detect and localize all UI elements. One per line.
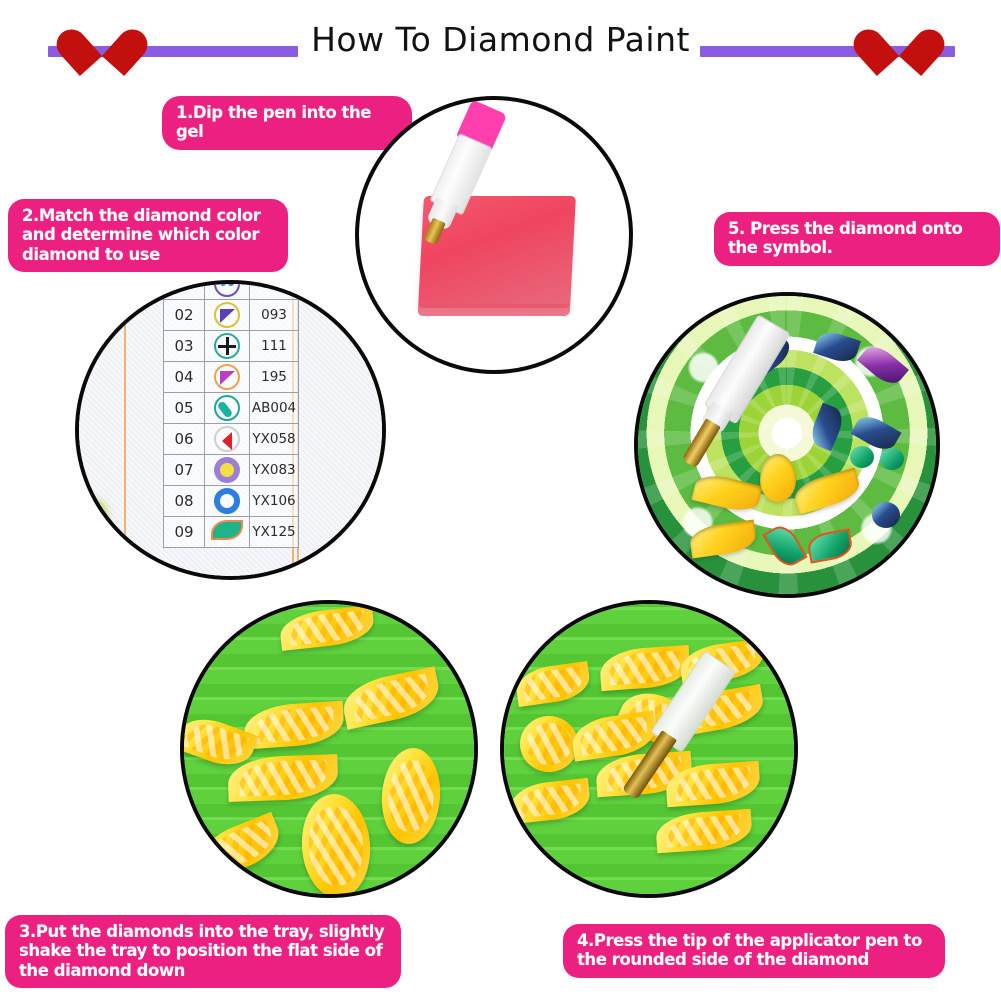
legend-code: YX083	[250, 455, 299, 486]
legend-code: YX058	[250, 424, 299, 455]
legend-index: 01	[164, 280, 205, 300]
step-5-photo-mandala-canvas	[634, 292, 940, 598]
table-row: 09 YX125	[164, 517, 299, 548]
table-row: 04 195	[164, 362, 299, 393]
legend-index: 08	[164, 486, 205, 517]
legend-code: 111	[250, 331, 299, 362]
legend-index: 05	[164, 393, 205, 424]
slash-capsule-circle-icon	[205, 393, 250, 424]
legend-code: 020	[250, 280, 299, 300]
legend-code: 093	[250, 300, 299, 331]
leaf-shape-icon	[205, 517, 250, 548]
double-dot-circle-icon	[205, 280, 250, 300]
legend-index: 02	[164, 300, 205, 331]
stray-teal-symbol	[81, 546, 105, 568]
step-2-label: 2.Match the diamond color and determine …	[8, 199, 288, 272]
step-3-photo-diamonds-in-tray	[180, 600, 478, 898]
step-4-photo-pen-picking-diamond	[500, 600, 798, 898]
step-5-label: 5. Press the diamond onto the symbol.	[714, 212, 1000, 266]
left-chevron-circle-icon	[205, 424, 250, 455]
legend-index: 09	[164, 517, 205, 548]
gem-being-placed	[760, 454, 796, 502]
plus-circle-icon	[205, 331, 250, 362]
step-2-photo-legend-chart: 01 020 02 093 03	[75, 280, 386, 580]
gem	[872, 502, 900, 528]
table-row: 03 111	[164, 331, 299, 362]
poster-header: How To Diamond Paint	[0, 0, 1001, 90]
filled-triangle-circle-icon	[205, 300, 250, 331]
table-row: 02 093	[164, 300, 299, 331]
step-1-label: 1.Dip the pen into the gel	[162, 96, 412, 150]
page-title: How To Diamond Paint	[0, 20, 1001, 59]
legend-index: 07	[164, 455, 205, 486]
legend-code: YX125	[250, 517, 299, 548]
step-4-label: 4.Press the tip of the applicator pen to…	[563, 924, 945, 978]
dot-ring-circle-icon	[205, 455, 250, 486]
open-ring-circle-icon	[205, 486, 250, 517]
step-1-photo-pen-dipping-gel	[355, 96, 633, 374]
legend-index: 04	[164, 362, 205, 393]
instruction-poster: How To Diamond Paint 1.Dip the pen into …	[0, 0, 1001, 1001]
chart-margin-line-left	[124, 284, 126, 576]
diamond	[520, 716, 578, 772]
gem	[850, 446, 874, 468]
legend-index: 03	[164, 331, 205, 362]
symbol-legend-table: 01 020 02 093 03	[163, 280, 299, 548]
table-row: 01 020	[164, 280, 299, 300]
table-row: 05 AB004	[164, 393, 299, 424]
table-row: 07 YX083	[164, 455, 299, 486]
table-row: 08 YX106	[164, 486, 299, 517]
legend-index: 06	[164, 424, 205, 455]
triangle-circle-icon	[205, 362, 250, 393]
legend-code: 195	[250, 362, 299, 393]
step-3-label: 3.Put the diamonds into the tray, slight…	[5, 915, 401, 988]
gem	[880, 448, 904, 470]
table-row: 06 YX058	[164, 424, 299, 455]
legend-code: YX106	[250, 486, 299, 517]
legend-code: AB004	[250, 393, 299, 424]
